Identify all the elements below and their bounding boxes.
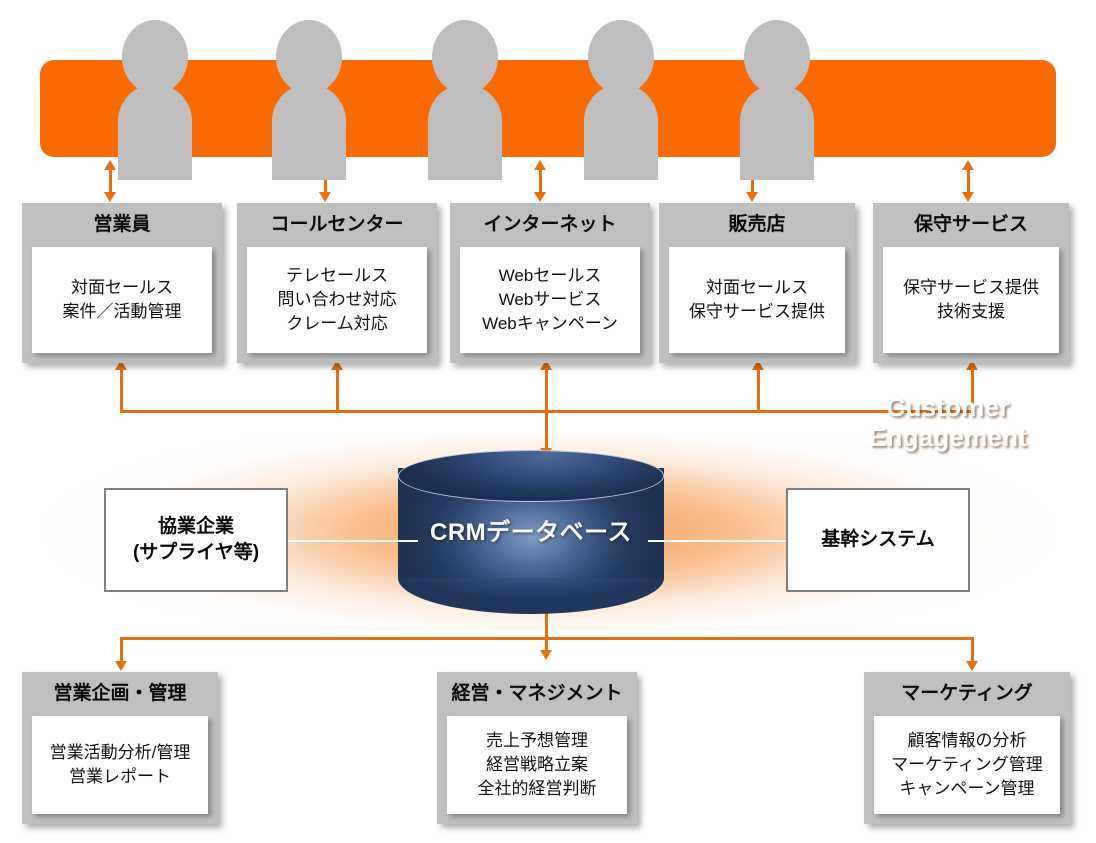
- dropper-bottom-1: [120, 637, 123, 661]
- channel-card-dealer[interactable]: 販売店 対面セールス 保守サービス提供: [659, 203, 855, 363]
- bottom-title: 経営・マネジメント: [437, 672, 637, 716]
- channel-title: 営業員: [22, 203, 222, 247]
- customer-figure: [740, 20, 814, 180]
- bottom-card-marketing[interactable]: マーケティング 顧客情報の分析 マーケティング管理 キャンペーン管理: [864, 672, 1070, 824]
- bottom-items: 営業活動分析/管理 営業レポート: [32, 716, 208, 814]
- partner-company-label: 協業企業 (サプライヤ等): [133, 514, 259, 565]
- channel-card-call-center[interactable]: コールセンター テレセールス 問い合わせ対応 クレーム対応: [237, 203, 437, 363]
- arrow-down-to-channel: [104, 192, 116, 202]
- channel-title: コールセンター: [237, 203, 437, 247]
- dropper-bottom-3: [971, 637, 974, 661]
- figure-head: [744, 20, 810, 94]
- channel-items: 対面セールス 案件／活動管理: [32, 247, 212, 353]
- figure-head: [276, 20, 342, 94]
- customer-figure: [584, 20, 658, 180]
- crm-database-label: CRMデータベース: [398, 512, 664, 547]
- crm-database-cylinder[interactable]: CRMデータベース: [398, 450, 664, 596]
- channel-title: インターネット: [450, 203, 650, 247]
- arrow-down-to-marketing: [966, 661, 978, 671]
- arrow-down-to-channel: [319, 192, 331, 202]
- customer-figure: [118, 20, 192, 180]
- figure-head: [588, 20, 654, 94]
- connector-banner-ch5: [967, 170, 970, 192]
- core-system-label: 基幹システム: [821, 527, 934, 553]
- customer-figure: [272, 20, 346, 180]
- channel-items: 保守サービス提供 技術支援: [883, 247, 1059, 353]
- arrow-up-to-banner: [104, 160, 116, 170]
- figure-head: [432, 20, 498, 94]
- channel-title: 販売店: [659, 203, 855, 247]
- channel-items: 対面セールス 保守サービス提供: [669, 247, 845, 353]
- figure-body: [118, 84, 192, 180]
- arrow-down-to-sales-planning: [115, 661, 127, 671]
- customer-engagement-banner: [40, 60, 1056, 157]
- channel-title: 保守サービス: [873, 203, 1069, 247]
- arrow-down-to-channel: [746, 192, 758, 202]
- partner-company-box[interactable]: 協業企業 (サプライヤ等): [104, 488, 288, 592]
- riser-ch2: [336, 370, 339, 412]
- figure-body: [272, 84, 346, 180]
- customer-engagement-label: Customer Engagement: [818, 391, 1078, 451]
- channel-card-internet[interactable]: インターネット Webセールス Webサービス Webキャンペーン: [450, 203, 650, 363]
- lower-bus-line: [120, 637, 974, 640]
- figure-head: [122, 20, 188, 94]
- arrow-down-to-channel: [962, 192, 974, 202]
- crm-architecture-diagram: Customer Engagement 営業員 対面セールス 案件／活動管理 コ…: [0, 0, 1096, 843]
- arrow-down-to-management: [540, 650, 552, 660]
- figure-body: [428, 84, 502, 180]
- riser-ch3-to-db: [545, 370, 548, 448]
- arrow-up-to-banner: [534, 160, 546, 170]
- bottom-items: 売上予想管理 経営戦略立案 全社的経営判断: [447, 716, 627, 814]
- arrow-up-to-banner: [962, 160, 974, 170]
- bottom-card-management[interactable]: 経営・マネジメント 売上予想管理 経営戦略立案 全社的経営判断: [437, 672, 637, 824]
- riser-ch1: [120, 370, 123, 412]
- riser-ch4: [757, 370, 760, 412]
- link-line-left: [288, 540, 418, 542]
- customer-figure: [428, 20, 502, 180]
- figure-body: [584, 84, 658, 180]
- channel-items: Webセールス Webサービス Webキャンペーン: [460, 247, 640, 353]
- connector-banner-ch3: [539, 170, 542, 192]
- channel-card-sales-rep[interactable]: 営業員 対面セールス 案件／活動管理: [22, 203, 222, 363]
- bottom-card-sales-planning[interactable]: 営業企画・管理 営業活動分析/管理 営業レポート: [22, 672, 218, 824]
- connector-banner-ch1: [109, 170, 112, 192]
- channel-items: テレセールス 問い合わせ対応 クレーム対応: [247, 247, 427, 353]
- figure-body: [740, 84, 814, 180]
- bottom-items: 顧客情報の分析 マーケティング管理 キャンペーン管理: [874, 716, 1060, 814]
- bottom-title: マーケティング: [864, 672, 1070, 716]
- bottom-title: 営業企画・管理: [22, 672, 218, 716]
- core-system-box[interactable]: 基幹システム: [786, 488, 970, 592]
- channel-card-maintenance[interactable]: 保守サービス 保守サービス提供 技術支援: [873, 203, 1069, 363]
- link-line-right: [648, 540, 788, 542]
- cylinder-top-ellipse: [398, 450, 664, 502]
- arrow-down-to-channel: [534, 192, 546, 202]
